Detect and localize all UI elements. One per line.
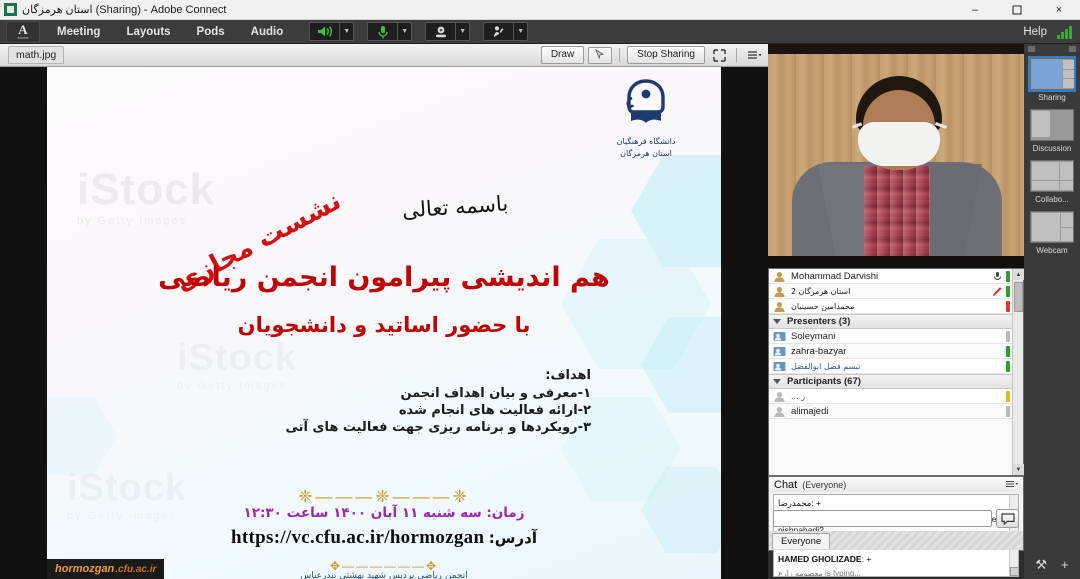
raise-hand-control-group: ▼: [483, 22, 528, 41]
chat-text: : +: [811, 498, 821, 508]
menu-bar: A Adobe Meeting Layouts Pods Audio ▼: [0, 20, 1080, 44]
attendee-name: Mohammad Darvishi: [791, 271, 878, 282]
attendee-status: [1006, 361, 1010, 372]
layout-item-sharing[interactable]: Sharing: [1024, 53, 1080, 104]
layout-label-discussion: Discussion: [1033, 144, 1072, 153]
rail-menu-icon[interactable]: [1069, 46, 1076, 52]
layout-thumb-sharing: [1030, 58, 1074, 90]
menu-layouts[interactable]: Layouts: [113, 20, 183, 44]
webcam-toggle-button[interactable]: [425, 22, 455, 41]
attendee-name: ز ...: [791, 392, 805, 401]
host-icon: [773, 300, 786, 312]
layout-label-webcam: Webcam: [1036, 246, 1067, 255]
minimize-button[interactable]: –: [954, 0, 996, 20]
attendee-row[interactable]: تبسم فضل ابوالفضل: [769, 359, 1012, 374]
menu-pods[interactable]: Pods: [184, 20, 238, 44]
microphone-icon: [376, 25, 390, 39]
shared-slide: iStock by Getty Images iStock by Getty I…: [47, 67, 721, 579]
attendee-name: alimajedi: [791, 406, 829, 417]
adobe-logo-icon: A Adobe: [6, 21, 40, 43]
chevron-down-icon: [773, 319, 781, 324]
ornament-divider: ❈———❈———❈: [47, 487, 721, 507]
speaker-dropdown-arrow[interactable]: ▼: [339, 22, 354, 41]
share-pod: math.jpg Draw Stop Sharing: [0, 44, 768, 579]
chat-sender: HAMED GHOLIZADE: [778, 554, 862, 564]
chat-tab-bar: Everyone: [769, 531, 1023, 550]
pointer-button[interactable]: [588, 47, 612, 64]
rail-grip-icon: [1028, 46, 1035, 52]
window-title: استان هرمزگان (Sharing) - Adobe Connect: [22, 3, 227, 16]
university-logo: دانشگاه فرهنگیان استان هرمزگان: [603, 79, 689, 159]
layout-thumb-collaboration: [1030, 160, 1074, 192]
pod-options-button[interactable]: [744, 47, 764, 64]
attendees-scrollbar[interactable]: ▲ ▼: [1012, 269, 1023, 475]
attendee-list: Mohammad Darvishi استان هرمزگان 2: [769, 269, 1012, 475]
menu-meeting[interactable]: Meeting: [44, 20, 113, 44]
chat-input[interactable]: [773, 510, 992, 527]
participant-icon: [773, 390, 786, 402]
webcam-pod[interactable]: [768, 44, 1024, 268]
host-icon: [773, 285, 786, 297]
slide-subtitle: با حضور اساتید و دانشجویان: [47, 313, 721, 337]
attendee-row[interactable]: ز ...: [769, 389, 1012, 404]
participants-group-header[interactable]: Participants (67): [769, 374, 1012, 389]
layout-label-sharing: Sharing: [1038, 93, 1066, 102]
university-name-line1: دانشگاه فرهنگیان: [603, 137, 689, 147]
presenters-group-header[interactable]: Presenters (3): [769, 314, 1012, 329]
window-controls: – ×: [954, 0, 1080, 20]
layout-rail: Sharing Discussion Collabo...: [1024, 44, 1080, 579]
layout-item-discussion[interactable]: Discussion: [1024, 104, 1080, 155]
attendee-status: [992, 271, 1010, 282]
attendee-row[interactable]: استان هرمزگان 2: [769, 284, 1012, 299]
fullscreen-icon: [713, 49, 726, 62]
site-watermark-name: hormozgan: [55, 563, 114, 575]
goal-item-1: ۱-معرفی و بیان اهداف انجمن: [286, 385, 591, 402]
site-watermark: hormozgan .cfu.ac.ir: [47, 559, 164, 579]
goal-item-2: ۲-ارائه فعالیت های انجام شده: [286, 402, 591, 419]
layout-item-collaboration[interactable]: Collabo...: [1024, 155, 1080, 206]
title-bar: استان هرمزگان (Sharing) - Adobe Connect …: [0, 0, 1080, 20]
chat-message: محمدرضا: +: [778, 498, 1014, 510]
address-label: آدرس:: [489, 529, 537, 547]
app-icon: [4, 3, 17, 16]
microphone-dropdown-arrow[interactable]: ▼: [397, 22, 412, 41]
attendee-row[interactable]: zahra-bazyar: [769, 344, 1012, 359]
fullscreen-button[interactable]: [709, 47, 729, 64]
goals-header: اهداف:: [286, 367, 591, 384]
chat-tab-everyone[interactable]: Everyone: [772, 533, 830, 549]
presenters-label: Presenters (3): [787, 316, 850, 327]
presenter-icon: [773, 360, 786, 372]
scroll-up-arrow[interactable]: ▲: [1013, 269, 1024, 280]
university-crest-icon: [622, 79, 670, 135]
participant-icon: [773, 405, 786, 417]
stop-sharing-button[interactable]: Stop Sharing: [627, 46, 705, 64]
attendee-status: [1006, 331, 1010, 342]
chat-text: : +: [862, 554, 872, 564]
scroll-down-arrow[interactable]: ▼: [1013, 464, 1024, 475]
attendee-name: استان هرمزگان 2: [791, 287, 850, 296]
rail-header: [1024, 44, 1080, 53]
close-button[interactable]: ×: [1038, 0, 1080, 20]
webcam-icon: [434, 25, 448, 38]
chat-typing-indicator: معصومه زارع is typing...: [778, 569, 1014, 578]
participants-label: Participants (67): [787, 376, 861, 387]
draw-icon: [992, 286, 1003, 297]
slide-address-row: آدرس: https://vc.cfu.ac.ir/hormozgan: [47, 527, 721, 549]
share-toolbar-actions: Draw Stop Sharing: [541, 46, 764, 64]
basmala-text: باسمه تعالی: [401, 191, 509, 222]
main-area: math.jpg Draw Stop Sharing: [0, 44, 1080, 579]
attendee-row[interactable]: Soleymani: [769, 329, 1012, 344]
attendee-row[interactable]: alimajedi: [769, 404, 1012, 419]
attendee-status: [992, 286, 1010, 297]
webcam-dropdown-arrow[interactable]: ▼: [455, 22, 470, 41]
adobe-logo-mark: A: [18, 24, 27, 35]
scrollbar-thumb[interactable]: [1014, 282, 1023, 312]
pod-menu-icon: [747, 50, 761, 60]
chat-send-button[interactable]: [996, 509, 1019, 528]
help-menu[interactable]: Help: [1013, 26, 1057, 38]
attendee-status: [1006, 301, 1010, 312]
slide-goals: اهداف: ۱-معرفی و بیان اهداف انجمن ۲-ارائ…: [286, 367, 591, 436]
attendee-status: [1006, 346, 1010, 357]
connection-strength-icon: [1057, 26, 1072, 39]
chat-pod: Chat (Everyone) محمدرضا: + فاطمه زار: [768, 476, 1024, 551]
rail-footer: ⚒ +: [1024, 557, 1080, 573]
attendee-status: [1006, 391, 1010, 402]
attendee-name: zahra-bazyar: [791, 346, 846, 357]
speaker-toggle-button[interactable]: [309, 22, 339, 41]
adobe-connect-window: استان هرمزگان (Sharing) - Adobe Connect …: [0, 0, 1080, 579]
chat-bubble-icon: [1001, 513, 1015, 525]
microphone-toggle-button[interactable]: [367, 22, 397, 41]
menu-bar-right: Help: [1013, 20, 1080, 44]
slide-datetime: زمان: سه شنبه ۱۱ آبان ۱۴۰۰ ساعت ۱۲:۳۰: [47, 505, 721, 521]
chat-header: Chat (Everyone): [769, 477, 1023, 492]
chat-pod-menu-button[interactable]: [1005, 480, 1018, 490]
layout-tools-icon[interactable]: ⚒: [1035, 557, 1047, 573]
presenter-icon: [773, 330, 786, 342]
layout-thumb-webcam: [1030, 211, 1074, 243]
chat-input-row: [773, 509, 1019, 528]
raise-hand-icon: [492, 25, 506, 38]
address-url: https://vc.cfu.ac.ir/hormozgan: [231, 527, 484, 549]
istock-watermark: iStock by Getty Images: [77, 165, 215, 227]
microphone-control-group: ▼: [367, 22, 412, 41]
draw-button[interactable]: Draw: [541, 46, 584, 64]
chat-message: HAMED GHOLIZADE: +: [778, 554, 1014, 565]
istock-watermark-2: iStock by Getty Images: [177, 337, 297, 392]
adobe-logo-sub: Adobe: [17, 35, 29, 40]
shared-file-tab[interactable]: math.jpg: [8, 46, 64, 64]
share-toolbar: math.jpg Draw Stop Sharing: [0, 44, 768, 67]
raise-hand-dropdown-arrow[interactable]: ▼: [513, 22, 528, 41]
slide-title: هم اندیشی پیرامون انجمن ریاضی: [47, 262, 721, 293]
add-layout-icon[interactable]: +: [1061, 557, 1069, 573]
attendee-name: محمدامین حسینیان: [791, 302, 854, 311]
chat-scope: (Everyone): [802, 480, 846, 490]
host-icon: [773, 270, 786, 282]
layout-label-collaboration: Collabo...: [1035, 195, 1069, 204]
chevron-down-icon: [773, 379, 781, 384]
attendee-name: تبسم فضل ابوالفضل: [791, 362, 860, 371]
right-column: Mohammad Darvishi استان هرمزگان 2: [768, 44, 1024, 579]
attendee-name: Soleymani: [791, 331, 835, 342]
presenter-icon: [773, 345, 786, 357]
layout-item-webcam[interactable]: Webcam: [1024, 206, 1080, 257]
speaker-icon: [317, 25, 333, 38]
menu-audio[interactable]: Audio: [238, 20, 297, 44]
university-name-line2: استان هرمزگان: [603, 149, 689, 159]
chat-title: Chat: [774, 479, 797, 491]
pointer-icon: [594, 49, 606, 61]
attendees-pod: Mohammad Darvishi استان هرمزگان 2: [768, 268, 1024, 476]
layout-thumb-discussion: [1030, 109, 1074, 141]
maximize-button[interactable]: [996, 0, 1038, 20]
site-watermark-domain: .cfu.ac.ir: [115, 564, 156, 575]
webcam-control-group: ▼: [425, 22, 470, 41]
attendee-status: [1006, 406, 1010, 417]
microphone-icon: [992, 271, 1003, 282]
chat-sender: محمدرضا: [778, 499, 811, 509]
attendee-row[interactable]: Mohammad Darvishi: [769, 269, 1012, 284]
speaker-control-group: ▼: [309, 22, 354, 41]
pod-menu-icon: [1005, 480, 1018, 488]
webcam-video: [768, 44, 1024, 268]
goal-item-3: ۳-رویکردها و برنامه ریزی جهت فعالیت های …: [286, 419, 591, 436]
attendee-row[interactable]: محمدامین حسینیان: [769, 299, 1012, 314]
raise-hand-button[interactable]: [483, 22, 513, 41]
